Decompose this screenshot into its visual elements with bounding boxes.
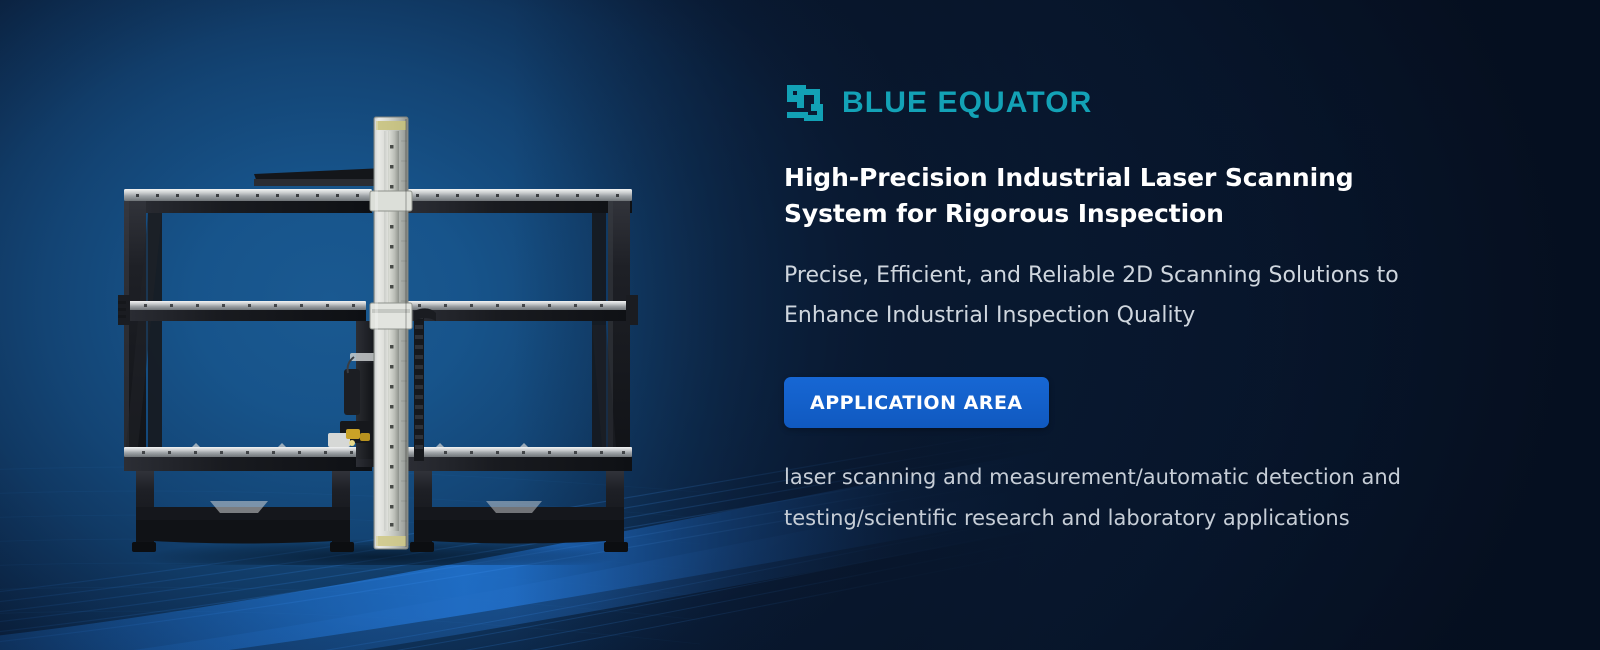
hero-content: BLUE EQUATOR High-Precision Industrial L…: [784, 0, 1484, 650]
brand-logo[interactable]: BLUE EQUATOR: [784, 82, 1092, 124]
page-title: High-Precision Industrial Laser Scanning…: [784, 160, 1444, 231]
brand-name: BLUE EQUATOR: [842, 86, 1092, 120]
hero-banner: BLUE EQUATOR High-Precision Industrial L…: [0, 0, 1600, 650]
application-area-button[interactable]: APPLICATION AREA: [784, 377, 1049, 428]
application-area-description: laser scanning and measurement/automatic…: [784, 457, 1464, 539]
page-subtitle: Precise, Efficient, and Reliable 2D Scan…: [784, 256, 1439, 336]
blue-equator-logo-icon: [784, 82, 826, 124]
product-image-gantry-scanner: [118, 95, 638, 565]
